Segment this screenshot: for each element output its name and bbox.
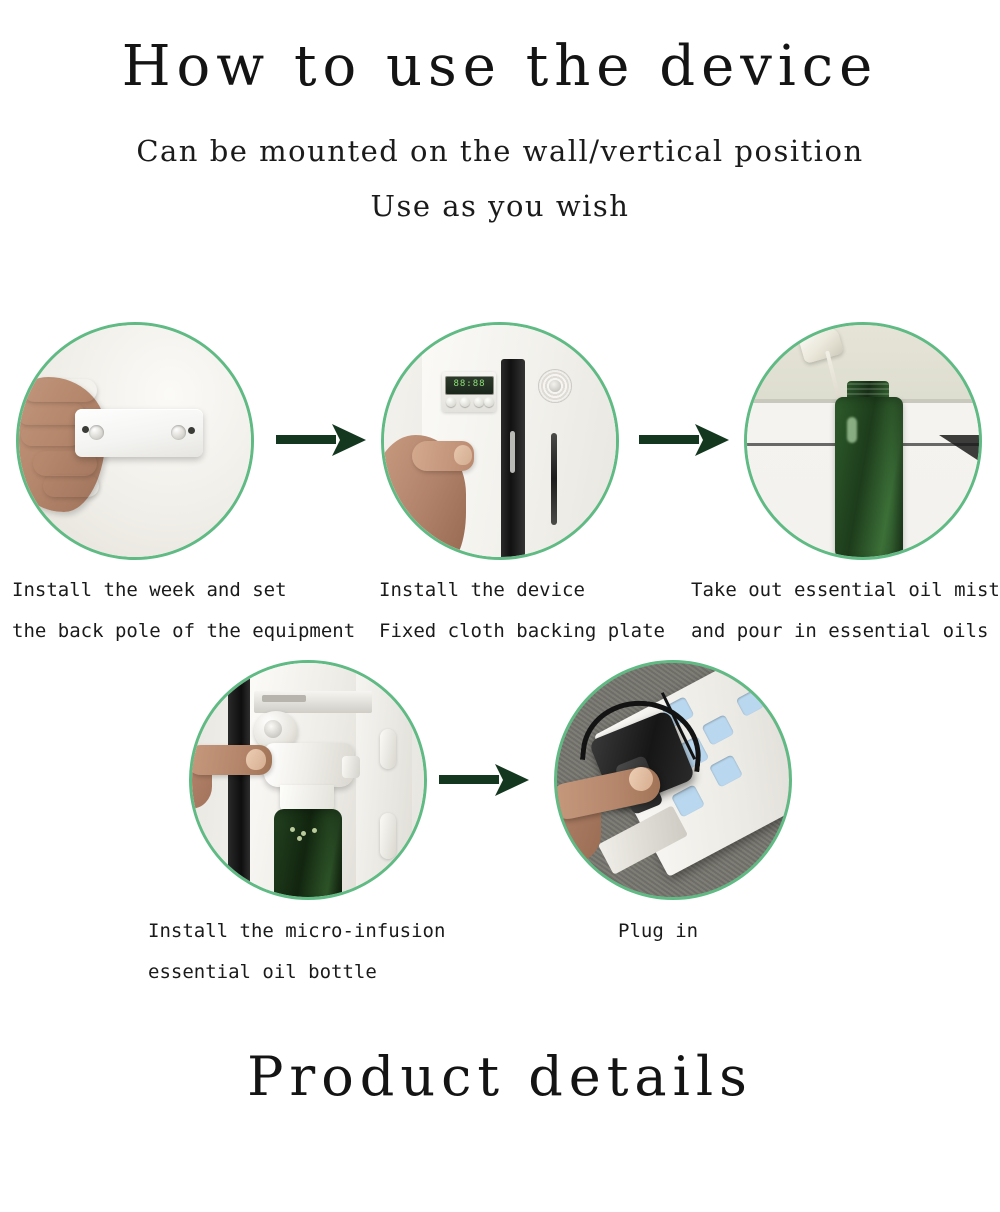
mount-keyhole-right bbox=[171, 425, 186, 440]
white-pump-cap bbox=[264, 743, 354, 787]
black-vertical-strip bbox=[501, 359, 525, 557]
arrow-right-icon bbox=[637, 418, 733, 462]
step-5-caption: Plug in bbox=[618, 911, 698, 952]
caption-line-2: the back pole of the equipment bbox=[12, 611, 355, 652]
caption-line-2: essential oil bottle bbox=[148, 952, 445, 993]
photo-green-oil-bottle bbox=[747, 325, 979, 557]
caption-line-2: and pour in essential oils bbox=[691, 611, 1000, 652]
lcd-screen: 88:88 bbox=[445, 376, 494, 395]
lcd-digits: 88:88 bbox=[446, 379, 493, 389]
green-oil-bottle bbox=[274, 809, 342, 897]
control-button-2[interactable] bbox=[460, 397, 470, 407]
arrow-right-icon bbox=[274, 418, 370, 462]
green-glass-bottle bbox=[835, 397, 903, 557]
mist-outlet-slot bbox=[551, 433, 557, 525]
top-shelf-slot bbox=[262, 695, 306, 702]
step-3-caption: Take out essential oil mist and pour in … bbox=[691, 570, 1000, 652]
caption-line-1: Take out essential oil mist bbox=[691, 570, 1000, 611]
product-details-title: Product details bbox=[0, 1045, 1000, 1108]
control-button-4[interactable] bbox=[484, 397, 494, 407]
screw-right bbox=[188, 427, 195, 434]
photo-plugging-adapter bbox=[557, 663, 789, 897]
caption-line-1: Install the micro-infusion bbox=[148, 911, 445, 952]
step-3-photo bbox=[744, 322, 982, 560]
photo-diffuser-device-panel: 88:88 bbox=[384, 325, 616, 557]
bottle-highlight bbox=[847, 417, 857, 443]
mount-keyhole-left bbox=[89, 425, 104, 440]
caption-line-1: Plug in bbox=[618, 911, 698, 952]
photo-hand-holding-wall-mount-plate bbox=[19, 325, 251, 557]
photo-installing-oil-bottle bbox=[192, 663, 424, 897]
control-button-1[interactable] bbox=[446, 397, 456, 407]
step-4-caption: Install the micro-infusion essential oil… bbox=[148, 911, 445, 993]
step-2-photo: 88:88 bbox=[381, 322, 619, 560]
finger-3 bbox=[21, 425, 81, 446]
step-5-photo bbox=[554, 660, 792, 900]
bottle-reflections bbox=[290, 827, 324, 841]
step-1-caption: Install the week and set the back pole o… bbox=[12, 570, 355, 652]
caption-line-1: Install the week and set bbox=[12, 570, 355, 611]
control-button-3[interactable] bbox=[474, 397, 484, 407]
finger-5 bbox=[43, 475, 99, 497]
fingernail bbox=[246, 749, 266, 770]
page-title: How to use the device bbox=[0, 34, 1000, 99]
arrow-step1-to-step2 bbox=[274, 418, 370, 462]
step-2-caption: Install the device Fixed cloth backing p… bbox=[379, 570, 665, 652]
caption-line-1: Install the device bbox=[379, 570, 665, 611]
arrow-step4-to-step5 bbox=[437, 758, 533, 802]
arrow-step2-to-step3 bbox=[637, 418, 733, 462]
subtitle-mounting: Can be mounted on the wall/vertical posi… bbox=[0, 134, 1000, 168]
circular-vent bbox=[538, 369, 572, 403]
device-dark-side-panel bbox=[228, 663, 250, 897]
thumbnail bbox=[454, 445, 472, 465]
step-4-photo bbox=[189, 660, 427, 900]
finger-1 bbox=[23, 379, 97, 402]
pump-cap-lip bbox=[342, 756, 360, 778]
arrow-right-icon bbox=[437, 758, 533, 802]
caption-line-2: Fixed cloth backing plate bbox=[379, 611, 665, 652]
subtitle-use-as-you-wish: Use as you wish bbox=[0, 189, 1000, 223]
panel-tab-lower bbox=[380, 813, 396, 859]
screw-left bbox=[82, 426, 89, 433]
step-1-photo bbox=[16, 322, 254, 560]
panel-tab-upper bbox=[380, 729, 396, 769]
